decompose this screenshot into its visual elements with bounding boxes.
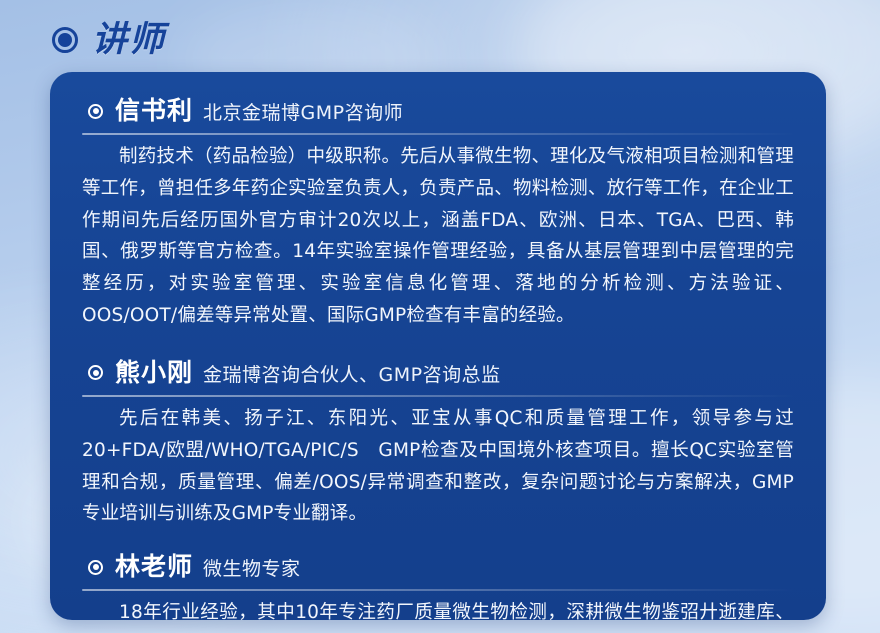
speaker-name: 林老师 — [115, 552, 193, 582]
speaker-entry-1: 信书利 北京金瑞博GMP咨询师 制药技术（药品检验）中级职称。先后从事微生物、理… — [80, 96, 796, 332]
speaker-role: 微生物专家 — [203, 558, 301, 581]
ring-bullet-icon — [52, 27, 78, 53]
speaker-card: 信书利 北京金瑞博GMP咨询师 制药技术（药品检验）中级职称。先后从事微生物、理… — [50, 72, 826, 620]
speaker-entry-3: 林老师 微生物专家 18年行业经验，其中10年专注药厂质量微生物检测，深耕微生物… — [80, 552, 796, 620]
speaker-header: 信书利 北京金瑞博GMP咨询师 — [80, 96, 796, 126]
page-title: 讲师 — [92, 23, 166, 58]
speaker-role: 北京金瑞博GMP咨询师 — [203, 102, 403, 125]
ring-bullet-icon — [88, 104, 103, 119]
speaker-header: 熊小刚 金瑞博咨询合伙人、GMP咨询总监 — [80, 358, 796, 388]
speaker-bio: 先后在韩美、扬子江、东阳光、亚宝从事QC和质量管理工作，领导参与过20+FDA/… — [80, 403, 796, 530]
ring-bullet-icon — [88, 560, 103, 575]
speaker-name: 熊小刚 — [115, 358, 193, 388]
ring-bullet-icon — [88, 365, 103, 380]
divider — [82, 589, 796, 591]
section-heading: 讲师 — [52, 18, 166, 62]
speaker-header: 林老师 微生物专家 — [80, 552, 796, 582]
speaker-name: 信书利 — [115, 96, 193, 126]
speaker-bio: 18年行业经验，其中10年专注药厂质量微生物检测，深耕微生物鉴弨廾逝建库、方法开… — [80, 597, 796, 620]
speaker-bio: 制药技术（药品检验）中级职称。先后从事微生物、理化及气液相项目检测和管理等工作，… — [80, 141, 796, 332]
spacer — [80, 534, 796, 552]
speaker-role: 金瑞博咨询合伙人、GMP咨询总监 — [203, 364, 501, 387]
divider — [82, 133, 796, 135]
spacer — [80, 336, 796, 358]
speaker-entry-2: 熊小刚 金瑞博咨询合伙人、GMP咨询总监 先后在韩美、扬子江、东阳光、亚宝从事Q… — [80, 358, 796, 530]
divider — [82, 395, 796, 397]
